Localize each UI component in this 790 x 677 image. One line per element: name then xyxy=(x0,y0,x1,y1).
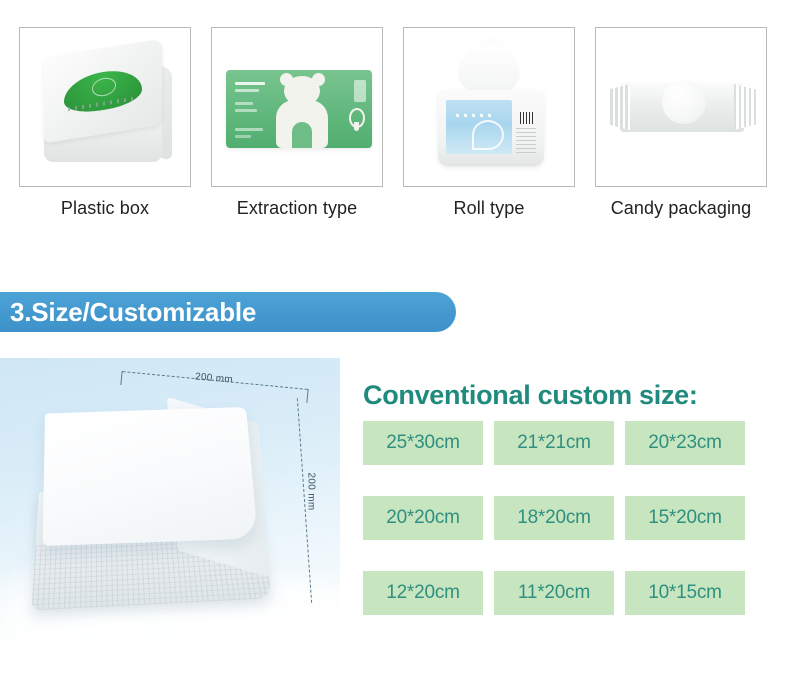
packaging-card-label: Candy packaging xyxy=(611,199,752,219)
packaging-card-label: Plastic box xyxy=(61,199,149,219)
packaging-card-label: Extraction type xyxy=(237,199,358,219)
plastic-box-icon xyxy=(20,28,190,186)
size-chip[interactable]: 18*20cm xyxy=(494,496,614,540)
size-chip[interactable]: 21*21cm xyxy=(494,421,614,465)
size-chip[interactable]: 11*20cm xyxy=(494,571,614,615)
conventional-size-heading: Conventional custom size: xyxy=(363,380,783,411)
size-chip[interactable]: 12*20cm xyxy=(363,571,483,615)
size-chip[interactable]: 15*20cm xyxy=(625,496,745,540)
packaging-types-section: Plastic box xyxy=(0,0,790,240)
size-section-banner: 3.Size/Customizable xyxy=(0,292,456,332)
size-section-title: 3.Size/Customizable xyxy=(0,297,256,328)
dimension-label-height: 200 mm xyxy=(305,473,316,511)
packaging-card-label: Roll type xyxy=(454,199,525,219)
size-chip[interactable]: 10*15cm xyxy=(625,571,745,615)
product-image-plastic-box xyxy=(19,27,191,187)
packaging-card-row: Plastic box xyxy=(0,0,790,219)
packaging-card-plastic-box[interactable]: Plastic box xyxy=(18,27,192,219)
extraction-pack-icon xyxy=(212,28,382,186)
packaging-card-roll-type[interactable]: Roll type xyxy=(402,27,576,219)
size-section-body: 200 mm 200 mm Conventional custom size: … xyxy=(0,358,790,648)
size-chip[interactable]: 20*20cm xyxy=(363,496,483,540)
product-image-candy-packaging xyxy=(595,27,767,187)
size-chip[interactable]: 25*30cm xyxy=(363,421,483,465)
towel-product-photo: 200 mm 200 mm xyxy=(0,358,340,640)
size-options-panel: Conventional custom size: 25*30cm 21*21c… xyxy=(363,380,783,615)
packaging-card-extraction-type[interactable]: Extraction type xyxy=(210,27,384,219)
size-chip-grid: 25*30cm 21*21cm 20*23cm 20*20cm 18*20cm … xyxy=(363,421,783,615)
roll-canister-icon xyxy=(404,28,574,186)
size-chip[interactable]: 20*23cm xyxy=(625,421,745,465)
packaging-card-candy-packaging[interactable]: Candy packaging xyxy=(594,27,768,219)
dimension-label-width: 200 mm xyxy=(192,371,237,386)
product-image-roll-type xyxy=(403,27,575,187)
candy-wrapper-icon xyxy=(596,28,766,186)
product-image-extraction-type xyxy=(211,27,383,187)
